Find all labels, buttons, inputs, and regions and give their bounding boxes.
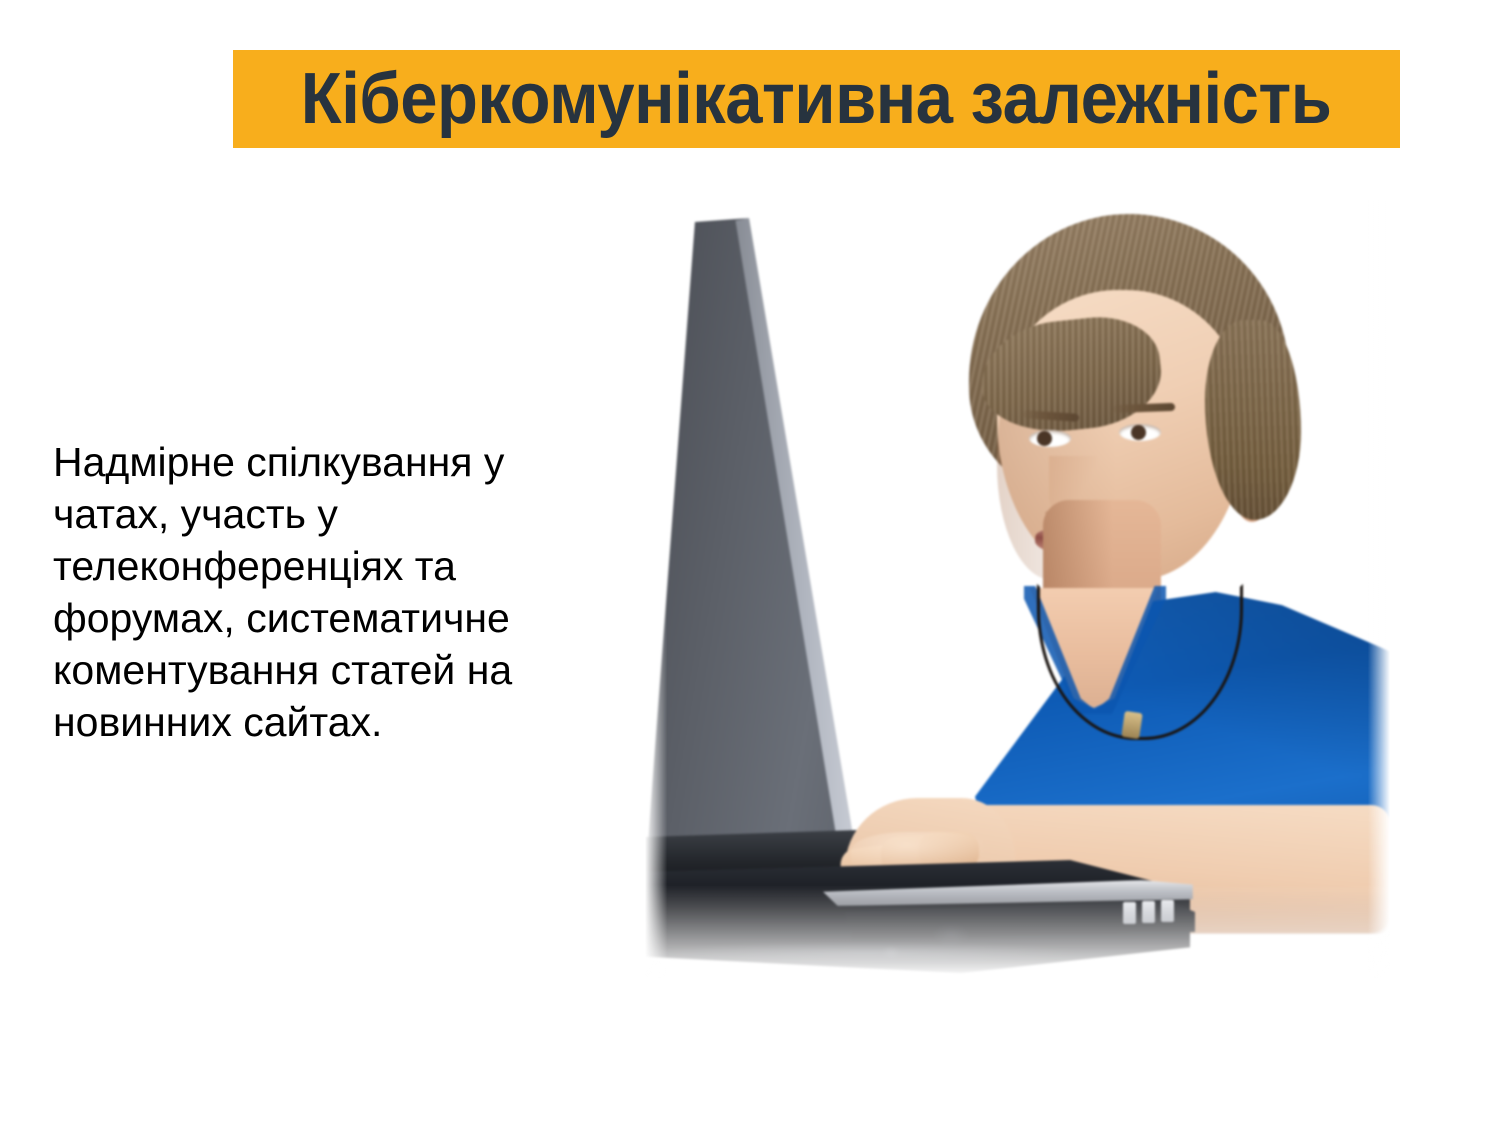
- laptop-port-indicator: [1142, 901, 1155, 923]
- page-title: Кіберкомунікативна залежність: [301, 63, 1332, 135]
- boy-at-laptop-photo: [645, 200, 1390, 978]
- title-banner: Кіберкомунікативна залежність: [233, 50, 1400, 148]
- laptop-port-indicator: [1161, 900, 1174, 922]
- photo-scene: [645, 200, 1390, 978]
- pupil-right: [1131, 425, 1146, 440]
- laptop-port-indicator: [1123, 902, 1136, 924]
- necklace-pendant: [1121, 711, 1142, 739]
- laptop-lid: [645, 218, 915, 878]
- laptop-ground-shadow: [655, 942, 1075, 964]
- pupil-left: [1037, 431, 1052, 446]
- body-paragraph: Надмірне спілкування у чатах, участь у т…: [53, 436, 553, 748]
